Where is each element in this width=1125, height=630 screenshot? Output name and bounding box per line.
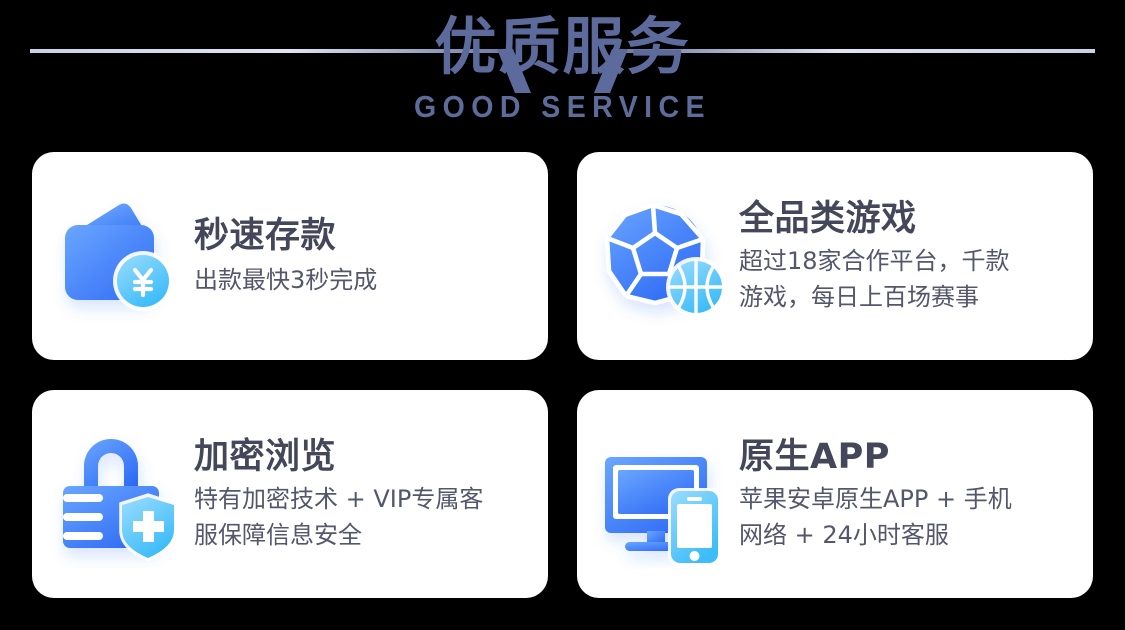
feature-card-encrypted-browsing[interactable]: 加密浏览 特有加密技术 + VIP专属客 服保障信息安全 — [32, 390, 548, 598]
page-title-cn: 优质服务 — [0, 8, 1125, 86]
card-description-line: 出款最快3秒完成 — [194, 266, 377, 294]
wallet-coin-icon — [44, 181, 194, 331]
card-title: 原生APP — [739, 435, 1077, 479]
sports-balls-icon — [589, 181, 739, 331]
card-description: 出款最快3秒完成 — [194, 262, 524, 298]
card-description-line: 苹果安卓原生APP + 手机 — [739, 481, 1069, 517]
monitor-phone-icon — [589, 419, 739, 569]
page-header: 优质服务 GOOD SERVICE — [0, 0, 1125, 150]
card-description: 苹果安卓原生APP + 手机 网络 + 24小时客服 — [739, 481, 1069, 553]
feature-card-native-app[interactable]: 原生APP 苹果安卓原生APP + 手机 网络 + 24小时客服 — [577, 390, 1093, 598]
card-title: 加密浏览 — [194, 435, 532, 479]
card-description-line: 网络 + 24小时客服 — [739, 517, 1069, 553]
feature-card-instant-deposit[interactable]: 秒速存款 出款最快3秒完成 — [32, 152, 548, 360]
card-text-block: 全品类游戏 超过18家合作平台，千款 游戏，每日上百场赛事 — [739, 197, 1093, 315]
card-text-block: 加密浏览 特有加密技术 + VIP专属客 服保障信息安全 — [194, 435, 548, 553]
card-title: 全品类游戏 — [739, 197, 1077, 241]
card-description-line: 游戏，每日上百场赛事 — [739, 279, 1069, 315]
header-title-block: 优质服务 GOOD SERVICE — [0, 8, 1125, 125]
card-text-block: 秒速存款 出款最快3秒完成 — [194, 214, 548, 298]
page-title-en: GOOD SERVICE — [45, 86, 1080, 125]
lock-shield-icon — [44, 419, 194, 569]
card-description-line: 服保障信息安全 — [194, 517, 524, 553]
card-description: 特有加密技术 + VIP专属客 服保障信息安全 — [194, 481, 524, 553]
feature-card-grid: 秒速存款 出款最快3秒完成 — [32, 152, 1093, 598]
card-description: 超过18家合作平台，千款 游戏，每日上百场赛事 — [739, 243, 1069, 315]
card-description-line: 特有加密技术 + VIP专属客 — [194, 481, 524, 517]
card-title: 秒速存款 — [194, 214, 532, 258]
card-text-block: 原生APP 苹果安卓原生APP + 手机 网络 + 24小时客服 — [739, 435, 1093, 553]
card-description-line: 超过18家合作平台，千款 — [739, 243, 1069, 279]
feature-card-all-category-games[interactable]: 全品类游戏 超过18家合作平台，千款 游戏，每日上百场赛事 — [577, 152, 1093, 360]
